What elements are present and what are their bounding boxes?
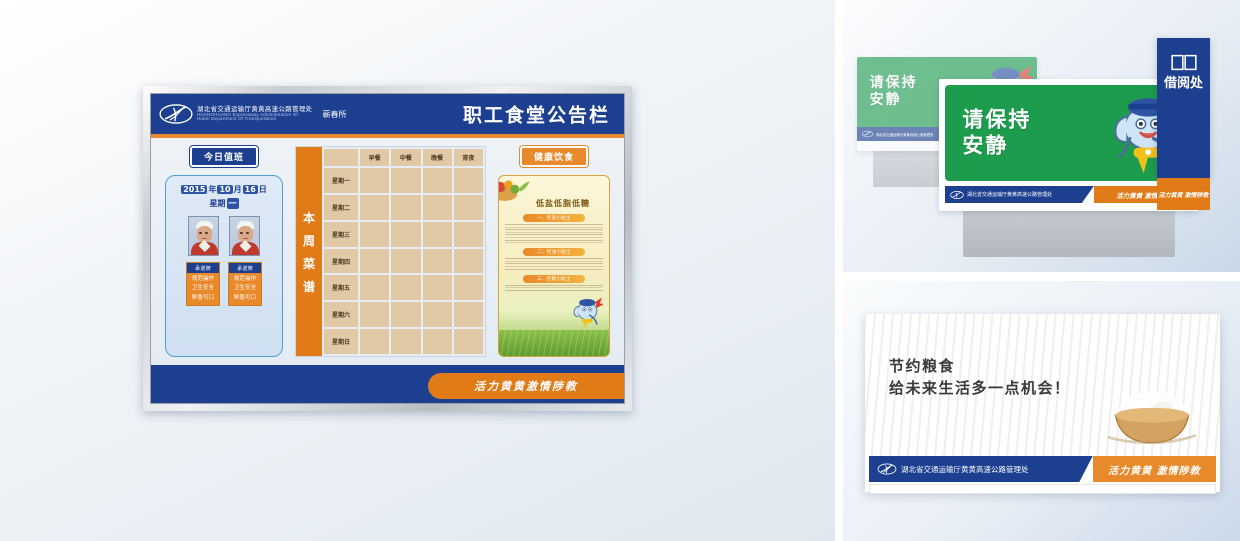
expressway-swoosh-logo-icon [159,101,193,127]
table-row: 星期六 [324,302,483,327]
health-poster: 低盐低脂低糖 一、控盐小贴士 二、控油小贴士 [498,175,610,357]
lending-sign-slogan: 活力黄黄 激情陟教 [1158,190,1208,199]
panel-divider-horizontal [843,272,1240,281]
rice-org-name: 湖北省交通运输厅黄黄高速公路管理处 [901,464,1029,475]
promise-card-body: 规范操作 卫生安全 鲜香可口 [187,273,219,305]
lending-sign-footer: 活力黄黄 激情陟教 [1157,178,1210,210]
menu-cell[interactable] [454,222,483,247]
board-body: 今日值班 2015 年 10 月 16 日 星期 [151,138,624,365]
menu-cell[interactable] [360,168,389,193]
health-section-heading: 一、控盐小贴士 [523,214,585,222]
menu-cell[interactable] [423,168,452,193]
table-row: 星期五 [324,275,483,300]
menu-cell[interactable] [391,222,420,247]
tent-green-panel: 请保持 安静 [945,85,1193,181]
promise-line: 鲜香可口 [229,294,261,303]
menu-corner-cell [324,149,358,166]
board-outer-frame: 湖北省交通运输厅黄黄高速公路管理处 HUANGHUANG Expressway … [143,86,632,411]
lending-desk-label: 借阅处 [1164,76,1203,91]
menu-spine-char: 本 [303,209,315,226]
menu-cell[interactable] [423,195,452,220]
table-row: 星期二 [324,195,483,220]
avatar [229,216,260,256]
vegetable-basket-icon [498,175,537,202]
duty-year-unit: 年 [208,184,216,195]
avatar [188,216,219,256]
tent-org-name: 湖北省交通运输厅黄黄高速公路管理处 [967,191,1052,198]
menu-row-label: 星期四 [324,249,358,274]
tent-message-line1: 请保持 [870,75,918,92]
table-row: 星期三 [324,222,483,247]
health-section: 三、控糖小贴士 [504,275,604,291]
menu-cell[interactable] [454,275,483,300]
rice-poster-bottom-strip [869,484,1216,494]
health-section: 二、控油小贴士 [504,248,604,269]
menu-spine-char: 菜 [303,255,315,272]
expressway-swoosh-logo-icon [950,190,964,200]
board-org-block: 湖北省交通运输厅黄黄高速公路管理处 HUANGHUANG Expressway … [197,106,312,122]
tent-message: 请保持 安静 [870,75,918,109]
duty-month: 10 [217,185,232,194]
rice-slogan-plate: 活力黄黄 激情陟教 [1093,456,1216,482]
rice-headline-line1: 节约粮食 [889,356,1071,378]
table-row: 星期四 [324,249,483,274]
duty-weekday-value: 一 [227,198,239,209]
rice-poster-headline: 节约粮食 给未来生活多一点机会！ [889,356,1071,400]
promise-cards: 承诺牌 规范操作 卫生安全 鲜香可口 承诺牌 [186,262,262,306]
health-section-heading: 二、控油小贴士 [523,248,585,256]
board-slogan-right: 激情陟教 [526,378,578,394]
health-body-text [504,285,604,291]
rice-headline-line2: 给未来生活多一点机会！ [889,378,1071,400]
rice-slogan: 活力黄黄 激情陟教 [1108,462,1200,477]
health-body-text [504,258,604,269]
expressway-swoosh-logo-icon [862,130,873,138]
rice-poster-image: 节约粮食 给未来生活多一点机会！ [865,314,1220,456]
tent-footer-bar: 湖北省交通运输厅黄黄高速公路管理处 活力黄黄 激情陟教 [945,186,1193,203]
panel-rice-poster: 节约粮食 给未来生活多一点机会！ [843,281,1240,541]
menu-cell[interactable] [454,168,483,193]
duty-day-unit: 日 [259,184,267,195]
menu-cell[interactable] [360,222,389,247]
tent-message-line1: 请保持 [962,107,1031,133]
menu-cell[interactable] [454,249,483,274]
health-section: 一、控盐小贴士 [504,214,604,243]
menu-row-label: 星期三 [324,222,358,247]
menu-header-row: 早餐 中餐 晚餐 宵夜 [324,149,483,166]
menu-cell[interactable] [423,249,452,274]
rice-field-graphic [499,330,609,356]
menu-spine-title: 本 周 菜 谱 [296,147,322,356]
rice-poster-footer-bar: 湖北省交通运输厅黄黄高速公路管理处 活力黄黄 激情陟教 [869,456,1216,482]
panel-bulletin-board: 湖北省交通运输厅黄黄高速公路管理处 HUANGHUANG Expressway … [0,0,835,541]
menu-cell[interactable] [454,329,483,354]
menu-cell[interactable] [454,195,483,220]
menu-row-label: 星期二 [324,195,358,220]
menu-cell[interactable] [360,249,389,274]
duty-weekday-prefix: 星期 [210,198,226,209]
tent-org-name: 湖北省交通运输厅黄黄高速公路管理处 [876,132,934,137]
weekly-menu-table: 本 周 菜 谱 早餐 中餐 晚餐 宵夜 [295,146,486,357]
duty-card: 2015 年 10 月 16 日 星期 一 [165,175,283,357]
menu-cell[interactable] [391,302,420,327]
menu-cell[interactable] [423,329,452,354]
promise-line: 卫生安全 [187,284,219,293]
board-main-title: 职工食堂公告栏 [463,101,610,128]
board-inner: 湖北省交通运输厅黄黄高速公路管理处 HUANGHUANG Expressway … [150,93,625,404]
promise-card: 承诺牌 规范操作 卫生安全 鲜香可口 [186,262,220,306]
health-section-heading: 三、控糖小贴士 [523,275,585,283]
health-body-text [504,224,604,243]
menu-cell[interactable] [423,222,452,247]
rice-poster-card: 节约粮食 给未来生活多一点机会！ [865,314,1220,492]
menu-cell[interactable] [391,195,420,220]
duty-photos [188,216,260,256]
table-row: 星期一 [324,168,483,193]
duty-chip-label: 今日值班 [190,146,258,167]
duty-year: 2015 [181,185,207,194]
panel-divider-vertical [836,0,841,541]
board-org-en-line2: Hubei Department Of Transportation [197,117,312,122]
menu-cell[interactable] [360,275,389,300]
rice-org-block: 湖北省交通运输厅黄黄高速公路管理处 [869,456,1093,482]
menu-row-label: 星期日 [324,329,358,354]
menu-row-label: 星期六 [324,302,358,327]
menu-col-header: 宵夜 [454,149,483,166]
duty-weekday: 星期 一 [210,198,239,209]
menu-col-header: 中餐 [391,149,420,166]
menu-cell[interactable] [423,302,452,327]
menu-spine-char: 谱 [303,278,315,295]
menu-row-label: 星期一 [324,168,358,193]
promise-line: 规范操作 [229,275,261,284]
promise-line: 卫生安全 [229,284,261,293]
promise-card-header: 承诺牌 [229,263,261,273]
menu-cell[interactable] [360,195,389,220]
tent-message-line2: 安静 [962,133,1031,159]
menu-cell[interactable] [391,275,420,300]
menu-spine-char: 周 [303,232,315,249]
health-column: 健康饮食 低盐低脂低糖 一、控盐小贴士 [496,146,612,357]
duty-month-unit: 月 [234,184,242,195]
duty-column: 今日值班 2015 年 10 月 16 日 星期 [163,146,285,357]
promise-card-body: 规范操作 卫生安全 鲜香可口 [229,273,261,305]
menu-row-label: 星期五 [324,275,358,300]
board-footer-slogan-plate: 活力黄黄 激情陟教 [428,373,624,399]
open-book-icon [1171,54,1197,71]
tent-org-block: 湖北省交通运输厅黄黄高速公路管理处 [945,186,1094,203]
promise-line: 规范操作 [187,275,219,284]
menu-cell[interactable] [391,168,420,193]
promise-line: 鲜香可口 [187,294,219,303]
table-row: 星期日 [324,329,483,354]
design-mockup-canvas: 湖北省交通运输厅黄黄高速公路管理处 HUANGHUANG Expressway … [0,0,1240,541]
menu-cell[interactable] [360,302,389,327]
promise-card-header: 承诺牌 [187,263,219,273]
duty-date: 2015 年 10 月 16 日 [181,184,267,195]
menu-cell[interactable] [360,329,389,354]
menu-col-header: 早餐 [360,149,389,166]
menu-grid: 早餐 中餐 晚餐 宵夜 星期一 [322,147,485,356]
duty-day: 16 [243,185,258,194]
board-header: 湖北省交通运输厅黄黄高速公路管理处 HUANGHUANG Expressway … [151,94,624,134]
promise-card: 承诺牌 规范操作 卫生安全 鲜香可口 [228,262,262,306]
menu-cell[interactable] [454,302,483,327]
board-slogan-left: 活力黄黄 [474,378,526,394]
board-branch-name: 蕲春所 [322,109,346,120]
expressway-swoosh-logo-icon [877,462,897,476]
bowl-of-rice-icon [1106,384,1198,450]
board-footer: 活力黄黄 激情陟教 [151,365,624,403]
health-chip-label: 健康饮食 [520,146,588,167]
menu-cell[interactable] [391,329,420,354]
tent-message-line2: 安静 [870,92,918,109]
menu-cell[interactable] [391,249,420,274]
menu-cell[interactable] [423,275,452,300]
tent-message: 请保持 安静 [962,107,1031,158]
lending-desk-sign: 借阅处 [1157,38,1210,178]
menu-col-header: 晚餐 [423,149,452,166]
elephant-mascot-icon [573,296,603,330]
